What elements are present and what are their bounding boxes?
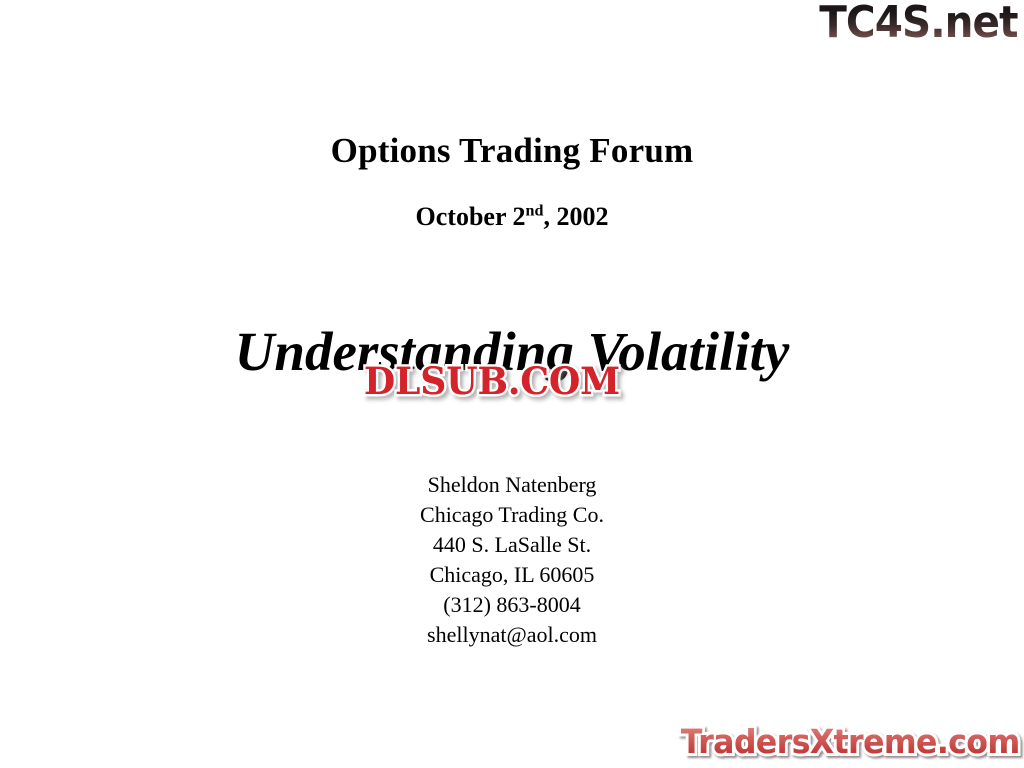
- contact-line-name: Sheldon Natenberg: [0, 470, 1024, 500]
- contact-line-phone: (312) 863-8004: [0, 590, 1024, 620]
- forum-date-prefix: October 2: [416, 202, 526, 231]
- forum-date: October 2nd, 2002: [0, 201, 1024, 233]
- tradersxtreme-com-watermark: TradersXtreme.com TradersXtreme.com: [681, 722, 1020, 762]
- tradersxtreme-com-watermark-fill: TradersXtreme.com: [681, 722, 1020, 762]
- dlsub-com-watermark: DLSUB.COM DLSUB.COM: [364, 360, 620, 402]
- presentation-slide: TC4S.net Options Trading Forum October 2…: [0, 0, 1024, 768]
- dlsub-com-watermark-fill: DLSUB.COM: [364, 360, 620, 402]
- contact-block: Sheldon Natenberg Chicago Trading Co. 44…: [0, 470, 1024, 650]
- contact-line-street: 440 S. LaSalle St.: [0, 530, 1024, 560]
- forum-title: Options Trading Forum: [0, 129, 1024, 173]
- contact-line-company: Chicago Trading Co.: [0, 500, 1024, 530]
- contact-line-email: shellynat@aol.com: [0, 620, 1024, 650]
- forum-date-suffix: , 2002: [543, 202, 608, 231]
- headline-block: Options Trading Forum October 2nd, 2002: [0, 129, 1024, 233]
- tc4s-net-watermark: TC4S.net: [820, 0, 1018, 48]
- contact-line-city-state-zip: Chicago, IL 60605: [0, 560, 1024, 590]
- forum-date-ordinal: nd: [526, 202, 544, 219]
